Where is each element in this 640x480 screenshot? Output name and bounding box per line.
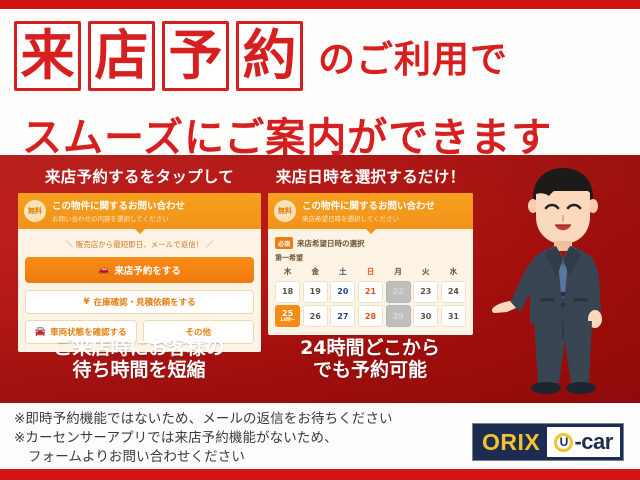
dow-thu: 木 bbox=[275, 266, 300, 278]
reserve-visit-label: 来店予約をする bbox=[114, 263, 181, 277]
left-caption-line-2: 待ち時間を短縮 bbox=[10, 359, 268, 381]
day-number: 18 bbox=[282, 287, 293, 296]
calendar-section-label: 来店希望日時の選択 bbox=[297, 238, 365, 249]
ucar-u-circle-icon: U bbox=[554, 433, 573, 452]
car-front-icon: 🚘 bbox=[35, 328, 46, 337]
calendar-day-cell[interactable]: 31 bbox=[441, 305, 466, 327]
orix-wordmark: ORIX bbox=[476, 429, 547, 456]
notice-line-1: ※即時予約機能ではないため、メールの返信をお待ちください bbox=[14, 410, 464, 429]
bottom-red-bar bbox=[0, 469, 640, 480]
calendar-form-header: 無料 この物件に関するお問い合わせ 来店希望日時を選択してください bbox=[268, 193, 473, 229]
stock-quote-label: 在庫確認・見積依頼をする bbox=[94, 296, 196, 308]
notice-line-3: フォームよりお問い合わせください bbox=[14, 448, 464, 467]
calendar-day-cell[interactable]: 19 bbox=[303, 281, 328, 303]
day-number: 22 bbox=[393, 287, 404, 296]
calendar-header-texts: この物件に関するお問い合わせ 来店希望日時を選択してください bbox=[302, 198, 435, 223]
headline-row-1: 来 店 予 約 のご利用で bbox=[14, 21, 508, 91]
free-badge: 無料 bbox=[274, 200, 296, 222]
calendar-day-cell[interactable]: 23 bbox=[413, 281, 438, 303]
stock-quote-button[interactable]: ¥ 在庫確認・見積依頼をする bbox=[25, 290, 254, 314]
advertisement-banner: 来 店 予 約 のご利用で スムーズにご案内ができます 来店予約するをタップして… bbox=[0, 0, 640, 480]
kanji-box-4: 約 bbox=[236, 21, 303, 91]
left-caption-line-1: ご来店時にお客様の bbox=[10, 337, 268, 359]
calendar-day-cell[interactable]: 26 bbox=[303, 305, 328, 327]
right-caption-line-1: 24時間どこから bbox=[262, 337, 478, 359]
top-red-bar bbox=[0, 0, 640, 9]
day-number: 30 bbox=[420, 312, 431, 321]
kanji-char-2: 店 bbox=[95, 29, 149, 83]
inquiry-form-header: 無料 この物件に関するお問い合わせ お問い合わせの内容を選択してください bbox=[18, 193, 261, 229]
inquiry-lead-text: ＼ 販売店から最短即日、メールで返信！ ／ bbox=[25, 239, 254, 250]
day-number: 25 bbox=[282, 309, 293, 318]
ucar-wordmark: U -car bbox=[547, 427, 620, 457]
right-caption-line-2: でも予約可能 bbox=[262, 359, 478, 381]
dow-fri: 金 bbox=[303, 266, 328, 278]
yen-icon: ¥ bbox=[83, 298, 89, 307]
inquiry-form-mockup: 無料 この物件に関するお問い合わせ お問い合わせの内容を選択してください ＼ 販… bbox=[18, 193, 261, 352]
left-caption: ご来店時にお客様の 待ち時間を短縮 bbox=[10, 337, 268, 382]
left-column-title: 来店予約するをタップして bbox=[18, 165, 261, 187]
day-number: 29 bbox=[393, 312, 404, 321]
day-number: 24 bbox=[448, 287, 459, 296]
dow-wed: 水 bbox=[441, 266, 466, 278]
calendar-mockup: 無料 この物件に関するお問い合わせ 来店希望日時を選択してください 必須 来店希… bbox=[268, 193, 473, 335]
calendar-header-title: この物件に関するお問い合わせ bbox=[302, 198, 435, 212]
reserve-visit-button[interactable]: 🚗 来店予約をする bbox=[25, 257, 254, 283]
inquiry-header-title: この物件に関するお問い合わせ bbox=[52, 198, 185, 212]
header-notch bbox=[135, 229, 145, 234]
dow-mon: 月 bbox=[386, 266, 411, 278]
kanji-box-3: 予 bbox=[162, 21, 229, 91]
calendar-day-cell[interactable]: 30 bbox=[413, 305, 438, 327]
notice-line-2: ※カーセンサーアプリでは来店予約機能がないため、 bbox=[14, 429, 464, 448]
calendar-body: 必須 来店希望日時の選択 第一希望 木 金 土 日 月 火 水 18 19 bbox=[268, 229, 473, 335]
day-number: 23 bbox=[420, 287, 431, 296]
dow-tue: 火 bbox=[413, 266, 438, 278]
orix-ucar-logo: ORIX U -car bbox=[472, 423, 624, 461]
first-choice-label: 第一希望 bbox=[275, 253, 466, 263]
day-number: 21 bbox=[365, 287, 376, 296]
inquiry-header-texts: この物件に関するお問い合わせ お問い合わせの内容を選択してください bbox=[52, 198, 185, 223]
calendar-day-cell[interactable]: 28 bbox=[358, 305, 383, 327]
day-time-label: 14時〜 bbox=[280, 319, 295, 324]
right-column-title: 来店日時を選択するだけ！ bbox=[268, 165, 473, 187]
ucar-text: -car bbox=[574, 429, 612, 455]
calendar-header-subtitle: 来店希望日時を選択してください bbox=[302, 213, 435, 223]
salesman-illustration bbox=[488, 161, 638, 403]
red-feature-panel: 来店予約するをタップして 無料 この物件に関するお問い合わせ お問い合わせの内容… bbox=[0, 155, 640, 403]
inquiry-form-body: ＼ 販売店から最短即日、メールで返信！ ／ 🚗 来店予約をする ¥ 在庫確認・見… bbox=[18, 229, 261, 352]
kanji-char-3: 予 bbox=[169, 29, 223, 83]
day-number: 26 bbox=[310, 312, 321, 321]
footer-notice: ※即時予約機能ではないため、メールの返信をお待ちください ※カーセンサーアプリで… bbox=[14, 410, 464, 467]
header-notch bbox=[366, 229, 376, 234]
required-tag: 必須 bbox=[275, 237, 293, 249]
calendar-day-cell-disabled: 22 bbox=[386, 281, 411, 303]
calendar-day-cell[interactable]: 21 bbox=[358, 281, 383, 303]
day-number: 19 bbox=[310, 287, 321, 296]
day-number: 27 bbox=[337, 312, 348, 321]
dow-sun: 日 bbox=[358, 266, 383, 278]
calendar-section-header: 必須 来店希望日時の選択 bbox=[275, 237, 466, 249]
headline-section: 来 店 予 約 のご利用で スムーズにご案内ができます bbox=[0, 9, 640, 155]
inquiry-header-subtitle: お問い合わせの内容を選択してください bbox=[52, 213, 185, 223]
kanji-box-1: 来 bbox=[14, 21, 81, 91]
calendar-day-cell-disabled: 29 bbox=[386, 305, 411, 327]
kanji-box-2: 店 bbox=[88, 21, 155, 91]
calendar-day-cell[interactable]: 20 bbox=[330, 281, 355, 303]
free-badge: 無料 bbox=[24, 200, 46, 222]
calendar-day-cell[interactable]: 24 bbox=[441, 281, 466, 303]
calendar-day-cell[interactable]: 27 bbox=[330, 305, 355, 327]
headline-tail-text: のご利用で bbox=[318, 29, 508, 83]
day-number: 31 bbox=[448, 312, 459, 321]
car-icon: 🚗 bbox=[98, 266, 109, 275]
kanji-char-4: 約 bbox=[243, 29, 297, 83]
right-caption: 24時間どこから でも予約可能 bbox=[262, 337, 478, 382]
left-feature-column: 来店予約するをタップして 無料 この物件に関するお問い合わせ お問い合わせの内容… bbox=[18, 165, 261, 352]
calendar-grid: 木 金 土 日 月 火 水 18 19 20 21 22 23 24 bbox=[275, 266, 466, 327]
day-number: 28 bbox=[365, 312, 376, 321]
calendar-day-cell-selected[interactable]: 25 14時〜 bbox=[275, 305, 300, 327]
right-feature-column: 来店日時を選択するだけ！ 無料 この物件に関するお問い合わせ 来店希望日時を選択… bbox=[268, 165, 473, 335]
kanji-char-1: 来 bbox=[21, 29, 75, 83]
dow-sat: 土 bbox=[330, 266, 355, 278]
day-number: 20 bbox=[337, 287, 348, 296]
calendar-day-cell[interactable]: 18 bbox=[275, 281, 300, 303]
